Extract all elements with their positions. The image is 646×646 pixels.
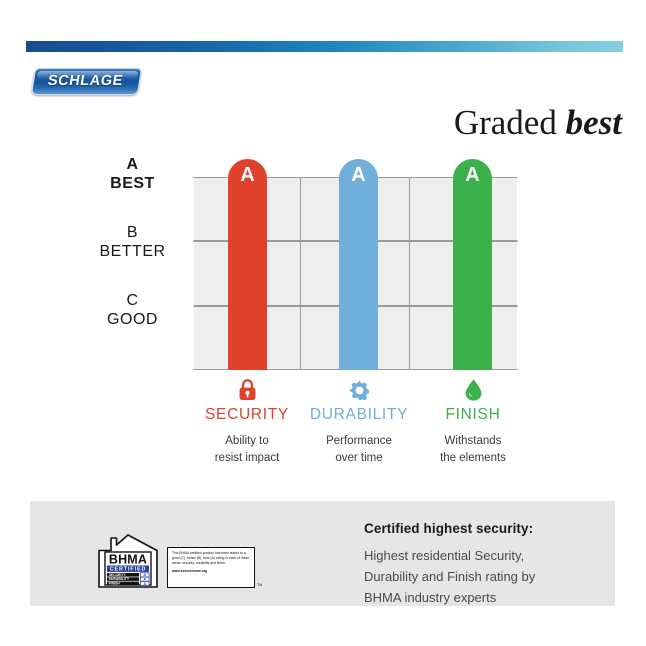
bar-security-grade: A xyxy=(228,164,267,187)
category-durability-desc-line2: over time xyxy=(294,450,424,467)
category-finish-label: FINISH xyxy=(408,406,538,424)
category-durability: DURABILITY Performance over time xyxy=(294,376,424,466)
y-axis-tick-b: B BETTER xyxy=(80,224,185,262)
droplet-icon xyxy=(408,376,538,404)
infographic-page: SCHLAGE Graded best A BEST B BETTER C GO… xyxy=(0,0,646,646)
bar-finish[interactable]: A xyxy=(453,159,492,370)
y-axis-tick-b-grade: B xyxy=(80,224,185,243)
y-axis-tick-b-word: BETTER xyxy=(80,243,185,262)
bar-durability-grade: A xyxy=(339,164,378,187)
category-security-desc-line1: Ability to xyxy=(182,433,312,450)
bhma-note-box: This BHMA certified product has been tes… xyxy=(167,547,255,588)
category-durability-desc-line1: Performance xyxy=(294,433,424,450)
bar-security[interactable]: A xyxy=(228,159,267,370)
category-finish-desc-line2: the elements xyxy=(408,450,538,467)
footer-panel: BHMA CERTIFIED SECURITY A DURABILITY A F… xyxy=(30,501,615,606)
category-security-desc: Ability to resist impact xyxy=(182,433,312,466)
y-axis-tick-c-word: GOOD xyxy=(80,311,185,330)
gear-icon xyxy=(294,376,424,404)
bar-finish-grade: A xyxy=(453,164,492,187)
bar-durability[interactable]: A xyxy=(339,159,378,370)
bhma-note-url[interactable]: www.securehome.org xyxy=(172,569,250,574)
category-durability-label: DURABILITY xyxy=(294,406,424,424)
padlock-icon xyxy=(182,376,312,404)
page-title: Graded best xyxy=(454,103,622,143)
footer-body-line2: Durability and Finish rating by xyxy=(364,566,604,587)
bhma-note-text: This BHMA certified product has been tes… xyxy=(172,551,249,565)
category-durability-desc: Performance over time xyxy=(294,433,424,466)
footer-heading: Certified highest security: xyxy=(364,521,604,536)
y-axis-tick-c-grade: C xyxy=(80,292,185,311)
svg-text:FINISH: FINISH xyxy=(109,582,121,586)
category-finish-desc: Withstands the elements xyxy=(408,433,538,466)
category-security: SECURITY Ability to resist impact xyxy=(182,376,312,466)
svg-text:BHMA: BHMA xyxy=(109,553,147,567)
y-axis-tick-a: A BEST xyxy=(80,156,185,194)
top-gradient-rule xyxy=(26,41,623,52)
grade-bar-chart: A BEST B BETTER C GOOD xyxy=(0,150,646,470)
logo-wordmark: SCHLAGE xyxy=(31,68,140,93)
footer-body: Highest residential Security, Durability… xyxy=(364,545,604,608)
title-regular: Graded xyxy=(454,103,566,142)
trademark-mark: TM xyxy=(257,583,262,587)
title-emphasis: best xyxy=(566,103,622,142)
svg-text:CERTIFIED: CERTIFIED xyxy=(110,567,147,573)
footer-body-line3: BHMA industry experts xyxy=(364,587,604,608)
y-axis-labels: A BEST B BETTER C GOOD xyxy=(80,150,185,375)
category-finish: FINISH Withstands the elements xyxy=(408,376,538,466)
schlage-logo[interactable]: SCHLAGE xyxy=(33,68,138,93)
svg-text:A: A xyxy=(143,582,146,586)
y-axis-tick-c: C GOOD xyxy=(80,292,185,330)
category-security-desc-line2: resist impact xyxy=(182,450,312,467)
bhma-certified-logo: BHMA CERTIFIED SECURITY A DURABILITY A F… xyxy=(97,528,267,588)
y-axis-tick-a-word: BEST xyxy=(80,175,185,194)
footer-copy: Certified highest security: Highest resi… xyxy=(364,521,604,608)
category-finish-desc-line1: Withstands xyxy=(408,433,538,450)
y-axis-tick-a-grade: A xyxy=(80,156,185,175)
footer-body-line1: Highest residential Security, xyxy=(364,545,604,566)
bhma-house-mark: BHMA CERTIFIED SECURITY A DURABILITY A F… xyxy=(97,528,159,589)
category-security-label: SECURITY xyxy=(182,406,312,424)
